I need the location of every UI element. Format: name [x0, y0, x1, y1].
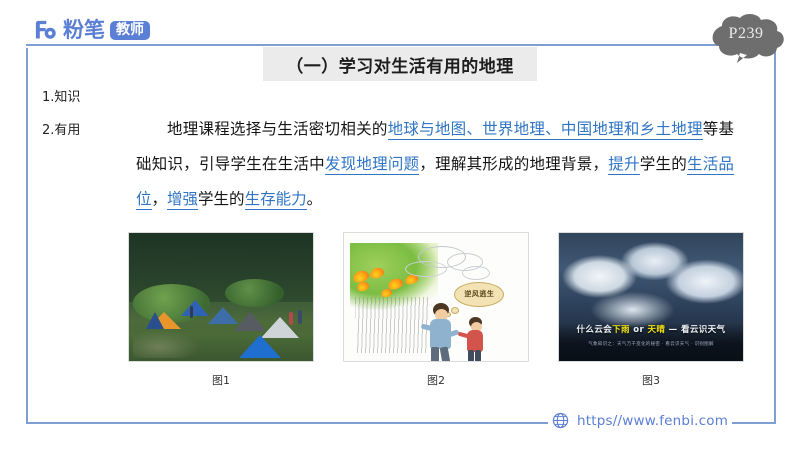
- overlay-part-2: or: [630, 325, 648, 335]
- figure-3-overlay-text: 什么云会下雨 or 天晴 — 看云识天气: [565, 323, 737, 335]
- brand-logo: 粉笔 教师: [32, 17, 156, 43]
- figure-1-image: [128, 232, 314, 362]
- fb-logo-icon: [32, 17, 58, 43]
- brand-name: 粉笔: [63, 20, 105, 41]
- body-plain-0: 地理课程选择与生活密切相关的: [167, 120, 388, 138]
- body-highlight-1: 地球与地图、世界地理、中国地理和乡土地理: [388, 120, 703, 140]
- figure-3-overlay-subtext: 气象知识之：天气万千变化的秘密 · 看云识天气 · 识别图解: [559, 341, 743, 347]
- figure-1: 图1: [128, 232, 314, 388]
- slide-border-right: [774, 44, 776, 424]
- body-plain-10: 学生的: [198, 190, 245, 208]
- figure-3-caption: 图3: [558, 372, 744, 388]
- body-paragraph: 地理课程选择与生活密切相关的地球与地图、世界地理、中国地理和乡土地理等基础知识，…: [136, 112, 734, 217]
- overlay-part-0: 什么云会: [577, 325, 613, 335]
- overlay-part-1: 下雨: [612, 325, 630, 335]
- figure-2-caption: 图2: [343, 372, 529, 388]
- slide-border-left: [26, 48, 28, 424]
- footer-url[interactable]: https//www.fenbi.com: [577, 413, 728, 429]
- body-highlight-11: 生存能力: [245, 190, 307, 210]
- outline-item-1: 1.知识: [42, 86, 132, 105]
- slide-title-box: （一）学习对生活有用的地理: [263, 47, 537, 81]
- brand-badge: 教师: [110, 21, 150, 40]
- overlay-part-3: 天晴: [648, 325, 666, 335]
- globe-icon: [552, 412, 569, 429]
- figure-2-bubble: 逆风逃生: [454, 282, 504, 307]
- figure-2-image: 逆风逃生: [343, 232, 529, 362]
- figure-row: 图1 逆风逃生: [128, 232, 748, 402]
- body-highlight-3: 发现地理问题: [325, 155, 419, 175]
- figure-2-bubble-text: 逆风逃生: [464, 289, 494, 299]
- overlay-part-4: — 看云识天气: [665, 325, 725, 335]
- body-highlight-5: 提升: [608, 155, 639, 175]
- body-plain-4: ，理解其形成的地理背景，: [419, 155, 608, 173]
- body-plain-12: 。: [307, 190, 323, 208]
- slide-border-top: [26, 44, 776, 46]
- figure-3: 什么云会下雨 or 天晴 — 看云识天气 气象知识之：天气万千变化的秘密 · 看…: [558, 232, 744, 388]
- body-plain-8: ，: [152, 190, 168, 208]
- outline-list: 1.知识 2.有用: [42, 86, 132, 152]
- figure-2: 逆风逃生 图2: [343, 232, 529, 388]
- body-highlight-9: 增强: [167, 190, 198, 210]
- body-plain-6: 学生的: [640, 155, 687, 173]
- figure-3-image: 什么云会下雨 or 天晴 — 看云识天气 气象知识之：天气万千变化的秘密 · 看…: [558, 232, 744, 362]
- cloud-shape-icon: [700, 12, 792, 64]
- outline-item-2: 2.有用: [42, 119, 132, 138]
- figure-1-caption: 图1: [128, 372, 314, 388]
- page-title: （一）学习对生活有用的地理: [286, 52, 514, 77]
- footer: https//www.fenbi.com: [548, 410, 732, 431]
- page-marker: P239: [700, 12, 792, 64]
